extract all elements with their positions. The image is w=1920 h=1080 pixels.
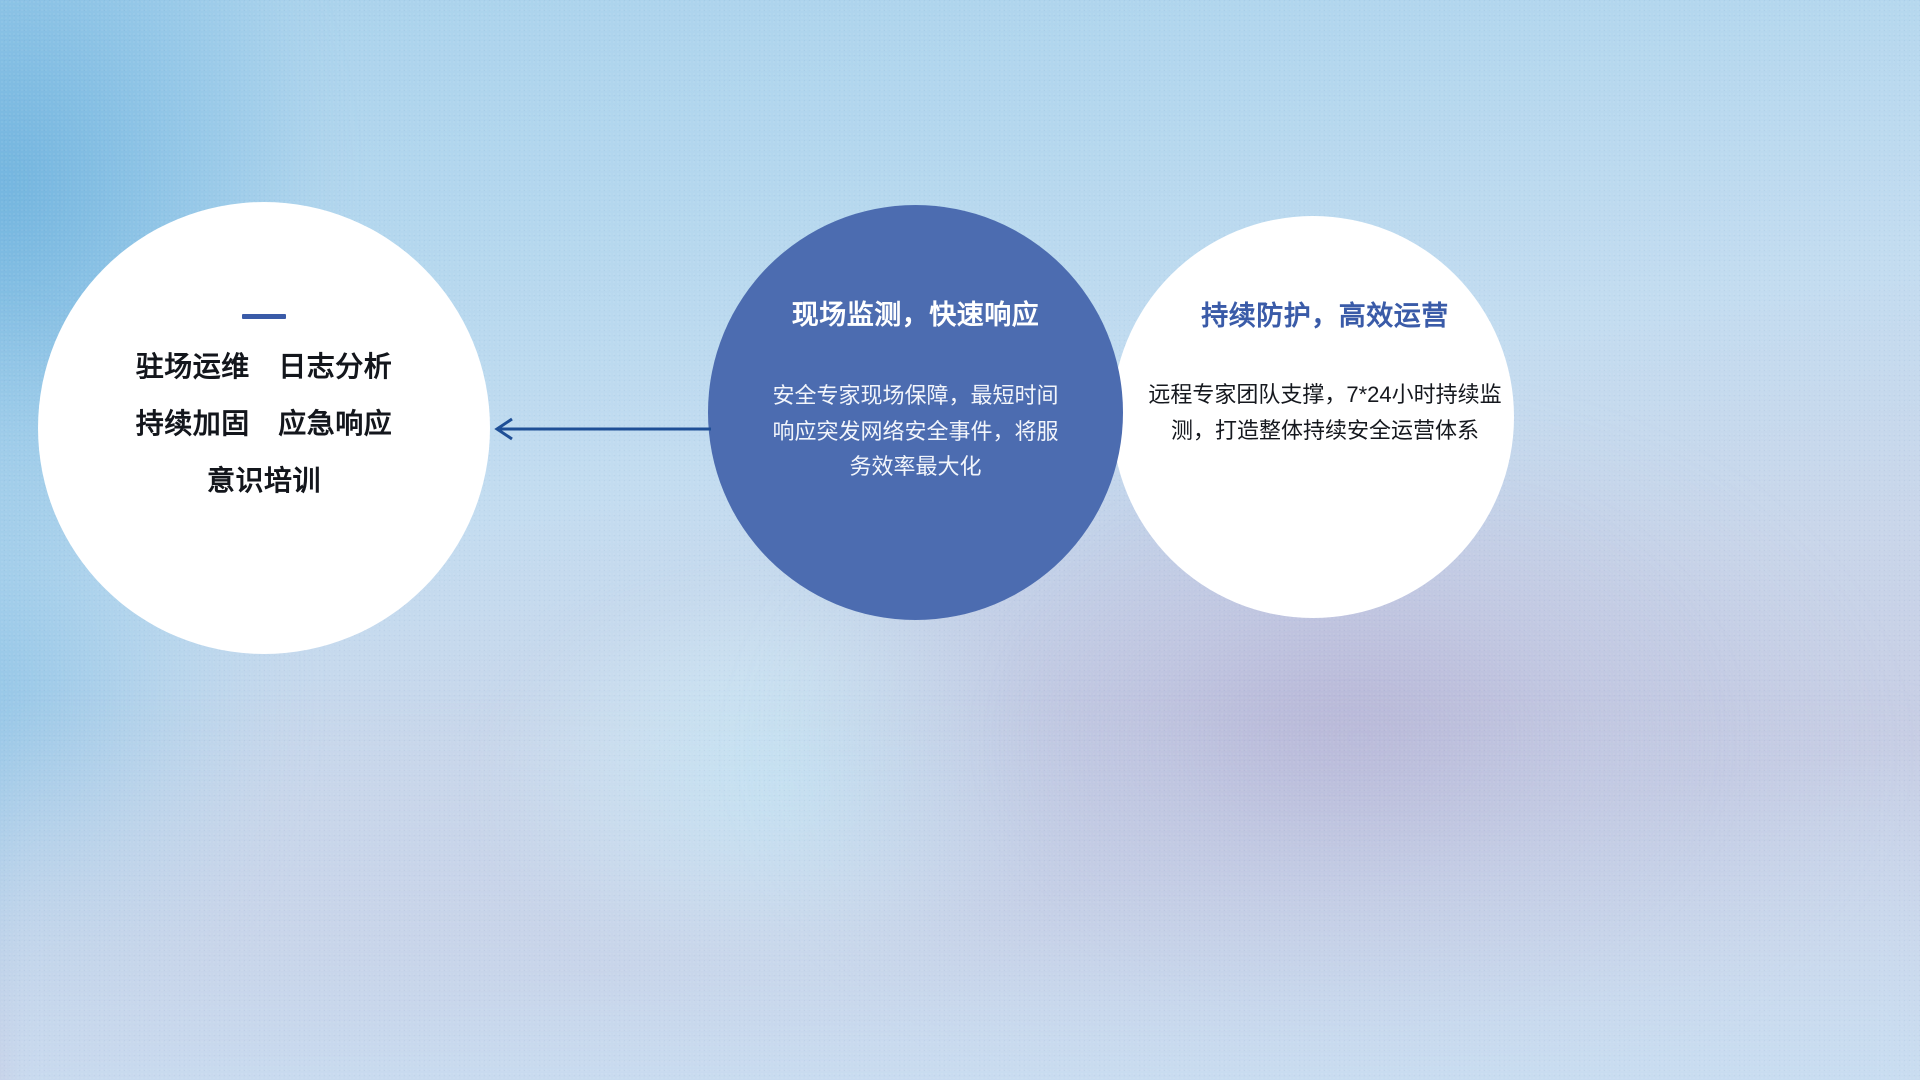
- capability-line: 持续加固 应急响应: [136, 410, 393, 438]
- capability-circle-middle[interactable]: 现场监测，快速响应 安全专家现场保障，最短时间响应突发网络安全事件，将服务效率最…: [708, 205, 1123, 620]
- slide-canvas: 驻场运维 日志分析 持续加固 应急响应 意识培训 持续防护，高效运营 远程专家团…: [0, 0, 1920, 1080]
- capability-line: 驻场运维 日志分析: [136, 353, 393, 381]
- right-circle-title: 持续防护，高效运营: [1201, 294, 1449, 333]
- capability-circle-right[interactable]: 持续防护，高效运营 远程专家团队支撑，7*24小时持续监测，打造整体持续安全运营…: [1112, 216, 1514, 618]
- right-circle-body: 远程专家团队支撑，7*24小时持续监测，打造整体持续安全运营体系: [1139, 377, 1511, 448]
- capability-circle-left[interactable]: 驻场运维 日志分析 持续加固 应急响应 意识培训: [38, 202, 490, 654]
- middle-circle-body: 安全专家现场保障，最短时间响应突发网络安全事件，将服务效率最大化: [771, 378, 1061, 485]
- capability-list: 驻场运维 日志分析 持续加固 应急响应 意识培训: [136, 353, 393, 495]
- arrow-left-icon: [490, 416, 712, 447]
- middle-circle-title: 现场监测，快速响应: [792, 293, 1040, 332]
- capability-line: 意识培训: [136, 467, 393, 495]
- divider-dash: [242, 314, 286, 319]
